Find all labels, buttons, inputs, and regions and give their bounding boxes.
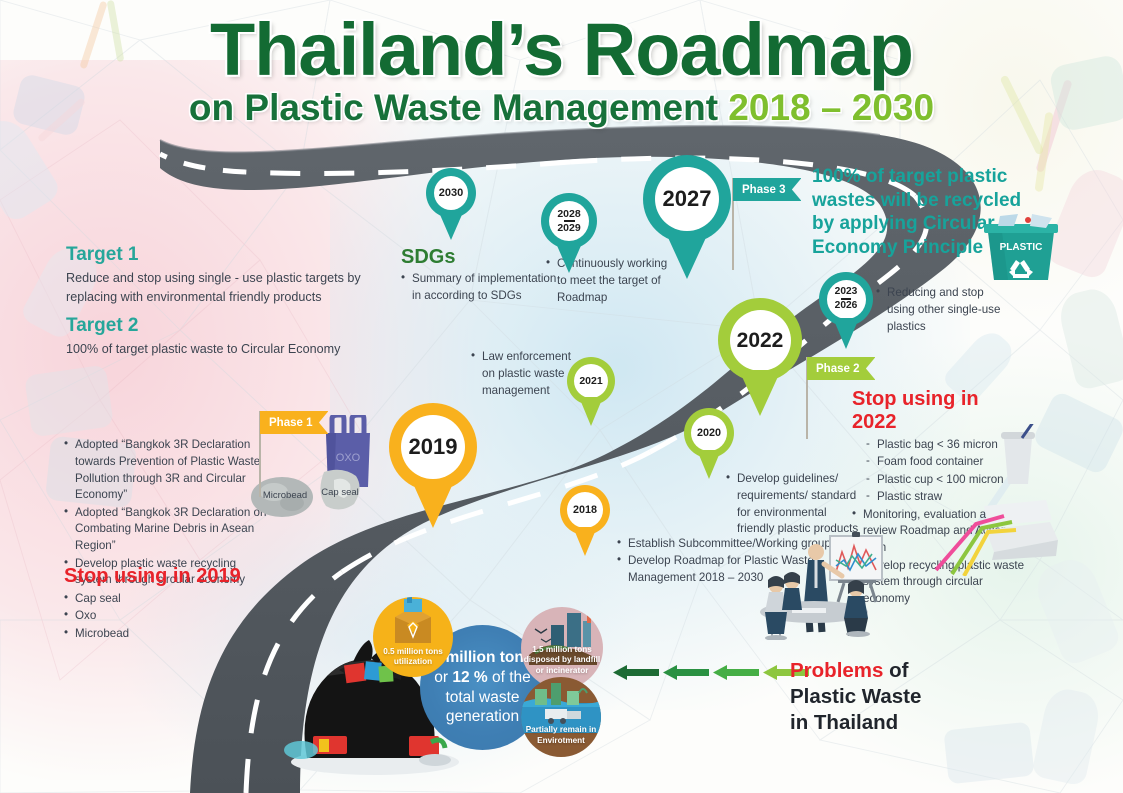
problems-line3: in Thailand xyxy=(790,711,898,734)
pin-2023-2026-tail xyxy=(833,318,859,349)
pin-2021-tail xyxy=(579,397,603,426)
target-2-block: Target 2 100% of target plastic waste to… xyxy=(66,315,366,359)
oxo-bag-label: OXO xyxy=(336,452,361,464)
cap-seal-caption: Cap seal xyxy=(316,487,364,498)
arrow-1-svg xyxy=(613,665,659,680)
list-item: Summary of implementation in according t… xyxy=(401,271,561,305)
pin-2019[interactable]: 2019 xyxy=(389,403,477,527)
pin-2019-label: 2019 xyxy=(401,415,465,479)
problems-heading: Problems of Plastic Waste in Thailand xyxy=(790,658,921,737)
pin-2028-2029-tail xyxy=(555,241,583,273)
pin-2029-label: 2029 xyxy=(557,223,580,234)
list-item: Oxo xyxy=(64,608,279,625)
pin-2027[interactable]: 2027 xyxy=(643,155,731,277)
stat-utilization-label: 0.5 million tons utilization xyxy=(373,647,453,677)
flag-phase-3-label: Phase 3 xyxy=(733,178,801,201)
stop-using-2019-block: Stop using in 2019 Cap seal Oxo Microbea… xyxy=(64,565,279,643)
stat-total-percent: 12 % xyxy=(452,669,487,686)
target-1-block: Target 1 Reduce and stop using single - … xyxy=(66,244,366,307)
stat-environment: Partially remain in Envirotment xyxy=(521,677,601,757)
sdgs-bullet-list: Summary of implementation in according t… xyxy=(401,271,561,305)
law-enforcement-block: Law enforcement on plastic waste managem… xyxy=(471,349,581,400)
pin-2030[interactable]: 2030 xyxy=(426,168,476,240)
pin-2021[interactable]: 2021 xyxy=(567,357,615,425)
pin-2028-label: 2028 xyxy=(557,209,580,220)
target-2-heading: Target 2 xyxy=(66,315,366,337)
target-2-body: 100% of target plastic waste to Circular… xyxy=(66,340,366,359)
plastic-straws-icon xyxy=(930,498,1020,576)
sdgs-block: SDGs Summary of implementation in accord… xyxy=(401,246,561,305)
pin-2019-head: 2019 xyxy=(389,403,477,491)
pin-2027-tail xyxy=(665,231,709,279)
pin-2023-label: 2023 xyxy=(835,287,858,297)
page-title: Thailand’s Roadmap on Plastic Waste Mana… xyxy=(0,14,1123,130)
pin-2020[interactable]: 2020 xyxy=(684,408,734,478)
pin-2021-label: 2021 xyxy=(574,364,608,398)
plastic-straws-svg xyxy=(930,498,1020,576)
pin-2027-label: 2027 xyxy=(655,167,719,231)
pin-2030-label: 2030 xyxy=(434,176,468,210)
flag-phase-1-label: Phase 1 xyxy=(260,411,328,434)
law-enforcement-bullet-list: Law enforcement on plastic waste managem… xyxy=(471,349,581,399)
pin-2022-tail xyxy=(739,370,781,416)
arrow-3 xyxy=(713,665,759,680)
microbead-caption: Microbead xyxy=(261,490,309,501)
pin-2028-2029-labels: 2028 2029 xyxy=(549,201,589,241)
pin-2026-label: 2026 xyxy=(835,301,858,311)
stat-total-line3: total waste xyxy=(445,689,519,706)
business-meeting-illustration xyxy=(752,530,892,640)
pin-2023-2026-labels: 2023 2026 xyxy=(827,280,866,319)
list-item: Law enforcement on plastic waste managem… xyxy=(471,349,581,399)
stat-utilization: 0.5 million tons utilization xyxy=(373,597,453,677)
stat-total-line4: generation xyxy=(446,708,519,725)
pin-2020-tail xyxy=(697,450,721,479)
pin-2023-2026[interactable]: 2023 2026 xyxy=(819,272,873,348)
problems-word-red: Problems xyxy=(790,659,883,682)
guidelines-block: Develop guidelines/ requirements/ standa… xyxy=(726,471,866,539)
arrow-3-svg xyxy=(713,665,759,680)
title-main: Thailand’s Roadmap xyxy=(0,14,1123,85)
pin-2018[interactable]: 2018 xyxy=(560,485,610,555)
pin-2028-2029[interactable]: 2028 2029 xyxy=(541,193,597,271)
stop-using-2019-list: Cap seal Oxo Microbead xyxy=(64,591,279,642)
stat-environment-label: Partially remain in Envirotment xyxy=(521,725,601,757)
target-1-heading: Target 1 xyxy=(66,244,366,266)
pin-2027-head: 2027 xyxy=(643,155,731,243)
pin-2018-label: 2018 xyxy=(567,492,603,528)
pin-2022-label: 2022 xyxy=(730,310,791,371)
list-item: Cap seal xyxy=(64,591,279,608)
list-item: Adopted “Bangkok 3R Declaration on Comba… xyxy=(64,505,269,555)
flag-phase-1[interactable]: Phase 1 xyxy=(259,411,328,434)
recycling-bin-label: PLASTIC xyxy=(1000,242,1043,253)
title-years: 2018 – 2030 xyxy=(728,87,934,128)
problems-line2: Plastic Waste xyxy=(790,685,921,708)
pin-2020-label: 2020 xyxy=(691,415,727,451)
plastic-cup-icon xyxy=(996,424,1040,488)
flag-phase-3[interactable]: Phase 3 xyxy=(732,178,801,201)
infographic-canvas: Thailand’s Roadmap on Plastic Waste Mana… xyxy=(0,0,1123,793)
title-sub: on Plastic Waste Management 2018 – 2030 xyxy=(0,87,1123,130)
arrow-2-svg xyxy=(663,665,709,680)
recycling-bin-icon: PLASTIC xyxy=(984,214,1058,294)
arrow-1 xyxy=(613,665,659,680)
target-1-body: Reduce and stop using single - use plast… xyxy=(66,269,366,307)
pin-2022[interactable]: 2022 xyxy=(718,298,802,416)
meeting-svg xyxy=(752,530,892,640)
list-item: Develop guidelines/ requirements/ standa… xyxy=(726,471,866,538)
pin-2030-tail xyxy=(438,210,464,240)
stop-using-2019-heading: Stop using in 2019 xyxy=(64,565,279,588)
sdgs-heading: SDGs xyxy=(401,246,561,269)
plastic-cup-svg xyxy=(996,424,1040,488)
flag-phase-2-label: Phase 2 xyxy=(807,357,875,380)
problems-word-of: of xyxy=(883,659,908,682)
list-item: Microbead xyxy=(64,626,279,643)
list-item: Adopted “Bangkok 3R Declaration towards … xyxy=(64,437,269,504)
pin-2019-tail xyxy=(411,479,455,528)
title-sub-text: on Plastic Waste Management xyxy=(189,87,718,128)
pin-2018-tail xyxy=(573,527,597,556)
guidelines-bullet-list: Develop guidelines/ requirements/ standa… xyxy=(726,471,866,538)
arrow-2 xyxy=(663,665,709,680)
recycling-bin-svg: PLASTIC xyxy=(984,214,1058,294)
flag-phase-2[interactable]: Phase 2 xyxy=(806,357,875,380)
